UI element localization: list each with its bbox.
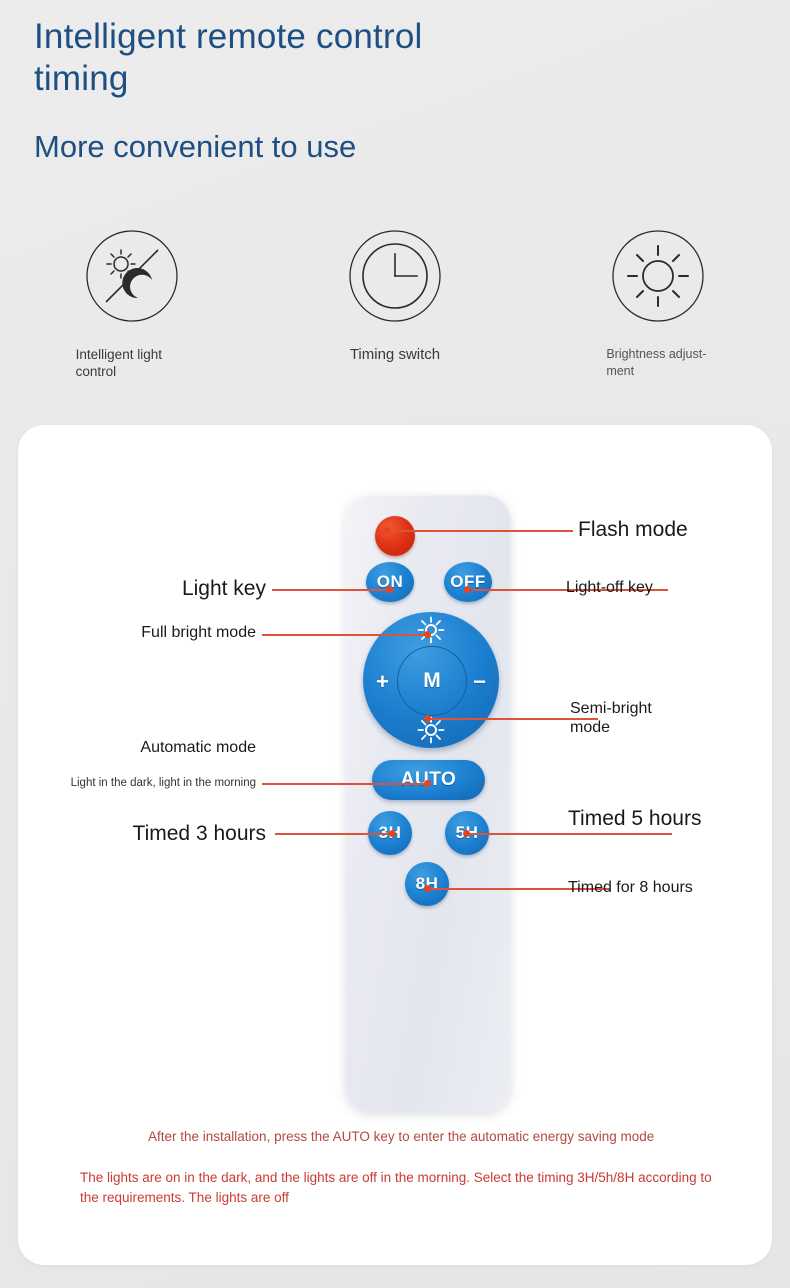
feature-item-light-control: Intelligent light control (0, 228, 263, 380)
caption-timing-usage: The lights are on in the dark, and the l… (80, 1168, 714, 1208)
brightness-down-button[interactable]: − (473, 669, 486, 695)
timer-8h-button[interactable]: 8H (405, 862, 449, 906)
leader-line-flash-mode (397, 530, 573, 532)
semi-bright-sun-icon[interactable] (417, 716, 445, 744)
brightness-up-button[interactable]: + (376, 669, 389, 695)
leader-line-automatic-mode (262, 783, 428, 785)
page-subtitle: More convenient to use (34, 128, 634, 166)
leader-line-full-bright (262, 634, 428, 636)
callout-light-key: Light key (100, 577, 266, 602)
leader-line-light-key (272, 589, 394, 591)
clock-timer-icon (347, 228, 443, 324)
callout-dot-full-bright (424, 631, 431, 638)
callout-dot-semi-bright (424, 715, 431, 722)
page-title: Intelligent remote control timing (34, 16, 474, 100)
page-header: Intelligent remote control timing More c… (34, 16, 634, 166)
full-bright-sun-icon[interactable] (417, 616, 445, 644)
callout-dot-auto (424, 780, 431, 787)
remote-control-body: ON OFF + M − AUTO 3H 5H 8H (345, 494, 511, 1112)
day-night-light-control-icon (84, 228, 180, 324)
mode-button[interactable]: M (397, 646, 467, 716)
callout-automatic-mode: Automatic mode (84, 739, 256, 758)
callout-dot-3h (389, 830, 396, 837)
feature-label: Brightness adjust-ment (606, 346, 710, 380)
callout-timed-3-hours: Timed 3 hours (90, 822, 266, 847)
callout-dot-flash (384, 527, 391, 534)
leader-line-timed-3h (275, 833, 393, 835)
callout-timed-8-hours: Timed for 8 hours (568, 879, 693, 898)
leader-line-timed-5h (467, 833, 672, 835)
feature-list: Intelligent light control Timing switch (0, 228, 790, 380)
callout-dot-5h (463, 830, 470, 837)
callout-full-bright-mode: Full bright mode (84, 624, 256, 643)
feature-label: Timing switch (320, 346, 470, 363)
callout-dot-8h (424, 885, 431, 892)
callout-flash-mode: Flash mode (578, 518, 688, 543)
off-button[interactable]: OFF (444, 562, 492, 602)
callout-automatic-mode-note: Light in the dark, light in the morning (60, 777, 256, 791)
callout-light-off-key: Light-off key (566, 579, 653, 598)
feature-label: Intelligent light control (76, 346, 188, 380)
caption-auto-mode: After the installation, press the AUTO k… (148, 1127, 668, 1147)
on-button[interactable]: ON (366, 562, 414, 602)
callout-dot-off (464, 586, 471, 593)
flash-button[interactable] (375, 516, 415, 556)
callout-semi-bright-mode: Semi-bright mode (570, 700, 680, 738)
callout-timed-5-hours: Timed 5 hours (568, 807, 701, 832)
control-pad[interactable]: + M − (363, 612, 499, 748)
sun-brightness-icon (610, 228, 706, 324)
callout-dot-on (386, 586, 393, 593)
feature-item-timing-switch: Timing switch (263, 228, 526, 380)
feature-item-brightness: Brightness adjust-ment (527, 228, 790, 380)
